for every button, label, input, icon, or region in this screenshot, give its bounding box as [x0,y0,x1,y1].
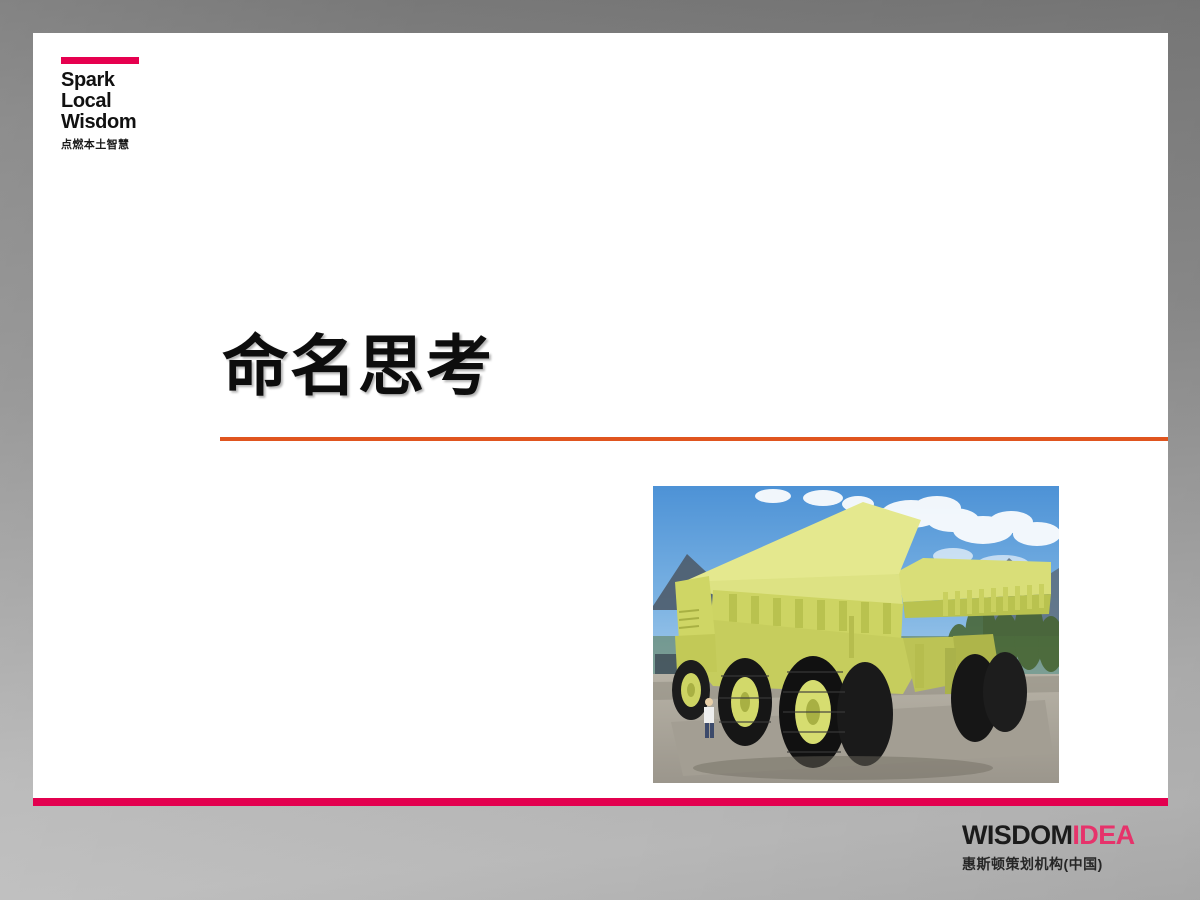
footer-wordmark-dark: WISDOM [962,820,1072,850]
title-underline-rule [220,437,1168,441]
brand-logo: Spark Local Wisdom 点燃本土智慧 [61,57,181,152]
footer-brand: WISDOMIDEA 惠斯顿策划机构(中国) [962,822,1182,874]
logo-line-3: Wisdom [61,112,181,133]
logo-line-2: Local [61,91,181,112]
slide-title-block: 命名思考 [222,333,1168,399]
footer-wordmark: WISDOMIDEA [962,822,1182,849]
page-title: 命名思考 [222,333,1168,399]
slide-canvas: Spark Local Wisdom 点燃本土智慧 命名思考 [33,33,1168,798]
content-photo [653,486,1059,783]
wheel-mid [718,658,772,746]
slide-stage: Spark Local Wisdom 点燃本土智慧 命名思考 [0,0,1200,900]
slide-bottom-accent-rule [33,798,1168,806]
footer-chinese-name: 惠斯顿策划机构(中国) [962,854,1182,874]
footer-wordmark-pink: IDEA [1072,820,1134,850]
logo-chinese-tagline: 点燃本土智慧 [61,136,181,152]
truck-photo-illustration [653,486,1059,783]
logo-line-1: Spark [61,70,181,91]
logo-accent-bar [61,57,139,64]
